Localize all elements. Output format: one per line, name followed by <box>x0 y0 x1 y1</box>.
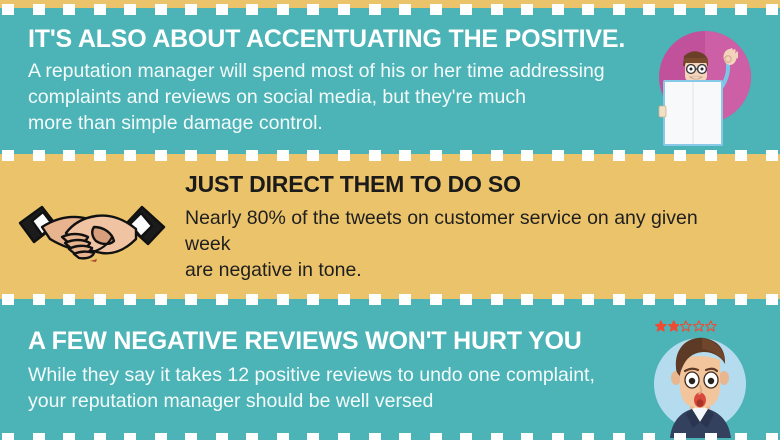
infographic-canvas: IT'S ALSO ABOUT ACCENTUATING THE POSITIV… <box>0 0 780 440</box>
section-2-body-line-1: Nearly 80% of the tweets on customer ser… <box>185 207 698 255</box>
perforation-dash <box>582 4 594 15</box>
perforation-dash <box>552 294 564 305</box>
perforation-dash <box>399 433 411 440</box>
section-2-text-block: JUST DIRECT THEM TO DO SO Nearly 80% of … <box>185 172 745 283</box>
perforation-dash <box>94 433 106 440</box>
perforation-dash <box>185 433 197 440</box>
section-2-body-line-2: are negative in tone. <box>185 259 362 281</box>
perforation-dash <box>63 150 75 161</box>
perforation-row-top <box>0 4 780 15</box>
perforation-dash <box>155 150 167 161</box>
section-1-headline: IT'S ALSO ABOUT ACCENTUATING THE POSITIV… <box>28 26 628 52</box>
perforation-dash <box>94 4 106 15</box>
perforation-dash <box>63 433 75 440</box>
star-filled-icon <box>668 319 680 333</box>
star-empty-icon <box>693 319 705 333</box>
perforation-dash <box>124 294 136 305</box>
perforation-dash <box>582 150 594 161</box>
perforation-dash <box>705 294 717 305</box>
perforation-dash <box>185 294 197 305</box>
section-3-body-line-1: While they say it takes 12 positive revi… <box>28 364 595 386</box>
perforation-dash <box>735 294 747 305</box>
perforation-dash <box>307 150 319 161</box>
section-1-body-line-1: A reputation manager will spend most of … <box>28 60 605 82</box>
perforation-dash <box>33 433 45 440</box>
perforation-dash <box>766 433 778 440</box>
perforation-row-bottom <box>0 433 780 440</box>
perforation-dash <box>521 150 533 161</box>
perforation-dash <box>521 294 533 305</box>
perforation-dash <box>277 294 289 305</box>
perforation-dash <box>277 433 289 440</box>
perforation-dash <box>613 4 625 15</box>
perforation-dash <box>2 294 14 305</box>
perforation-dash <box>552 150 564 161</box>
perforation-dash <box>33 294 45 305</box>
perforation-dash <box>185 150 197 161</box>
perforation-dash <box>521 433 533 440</box>
perforation-dash <box>491 294 503 305</box>
perforation-row-middle-2 <box>0 294 780 305</box>
perforation-dash <box>766 150 778 161</box>
perforation-dash <box>582 294 594 305</box>
perforation-dash <box>460 4 472 15</box>
perforation-dash <box>552 4 564 15</box>
perforation-dash <box>369 4 381 15</box>
perforation-dash <box>155 294 167 305</box>
section-1-text-block: IT'S ALSO ABOUT ACCENTUATING THE POSITIV… <box>28 26 628 136</box>
perforation-dash <box>491 150 503 161</box>
man-holding-clipboard-illustration <box>645 22 765 147</box>
perforation-dash <box>63 4 75 15</box>
perforation-dash <box>430 294 442 305</box>
section-3-headline: A FEW NEGATIVE REVIEWS WON'T HURT YOU <box>28 328 628 354</box>
star-empty-icon <box>680 319 692 333</box>
perforation-dash <box>155 433 167 440</box>
perforation-dash <box>33 4 45 15</box>
perforation-dash <box>124 4 136 15</box>
perforation-dash <box>246 4 258 15</box>
star-filled-icon <box>655 319 667 333</box>
perforation-dash <box>2 150 14 161</box>
perforation-dash <box>307 294 319 305</box>
perforation-dash <box>94 150 106 161</box>
perforation-dash <box>185 4 197 15</box>
section-2-body: Nearly 80% of the tweets on customer ser… <box>185 206 745 283</box>
perforation-dash <box>460 433 472 440</box>
perforation-dash <box>430 150 442 161</box>
perforation-dash <box>460 150 472 161</box>
perforation-dash <box>216 4 228 15</box>
section-1-body-line-2: complaints and reviews on social media, … <box>28 86 526 108</box>
perforation-dash <box>369 433 381 440</box>
perforation-dash <box>705 4 717 15</box>
perforation-dash <box>369 150 381 161</box>
perforation-dash <box>674 433 686 440</box>
perforation-dash <box>674 4 686 15</box>
perforation-dash <box>491 433 503 440</box>
perforation-dash <box>766 4 778 15</box>
perforation-dash <box>582 433 594 440</box>
perforation-dash <box>399 4 411 15</box>
section-3-text-block: A FEW NEGATIVE REVIEWS WON'T HURT YOU Wh… <box>28 328 628 415</box>
perforation-dash <box>2 433 14 440</box>
perforation-dash <box>430 4 442 15</box>
perforation-dash <box>552 433 564 440</box>
perforation-dash <box>338 150 350 161</box>
perforation-dash <box>94 294 106 305</box>
perforation-dash <box>735 433 747 440</box>
perforation-dash <box>430 433 442 440</box>
handshake-illustration <box>16 193 168 267</box>
perforation-dash <box>643 294 655 305</box>
perforation-dash <box>277 150 289 161</box>
perforation-dash <box>216 294 228 305</box>
perforation-row-middle-1 <box>0 150 780 161</box>
perforation-dash <box>766 294 778 305</box>
perforation-dash <box>613 150 625 161</box>
perforation-dash <box>613 294 625 305</box>
perforation-dash <box>643 433 655 440</box>
perforation-dash <box>735 4 747 15</box>
section-3-body-line-2: your reputation manager should be well v… <box>28 390 433 412</box>
perforation-dash <box>216 150 228 161</box>
perforation-dash <box>643 150 655 161</box>
perforation-dash <box>399 150 411 161</box>
perforation-dash <box>33 150 45 161</box>
perforation-dash <box>277 4 289 15</box>
perforation-dash <box>246 294 258 305</box>
perforation-dash <box>124 433 136 440</box>
perforation-dash <box>705 433 717 440</box>
perforation-dash <box>491 4 503 15</box>
perforation-dash <box>338 4 350 15</box>
perforation-dash <box>399 294 411 305</box>
perforation-dash <box>338 433 350 440</box>
perforation-dash <box>521 4 533 15</box>
star-rating <box>655 319 717 335</box>
perforation-dash <box>705 150 717 161</box>
perforation-dash <box>307 4 319 15</box>
perforation-dash <box>2 4 14 15</box>
perforation-dash <box>216 433 228 440</box>
perforation-dash <box>674 294 686 305</box>
perforation-dash <box>460 294 472 305</box>
perforation-dash <box>63 294 75 305</box>
perforation-dash <box>674 150 686 161</box>
perforation-dash <box>246 150 258 161</box>
star-empty-icon <box>705 319 717 333</box>
perforation-dash <box>735 150 747 161</box>
section-2-headline: JUST DIRECT THEM TO DO SO <box>185 172 745 196</box>
perforation-dash <box>307 433 319 440</box>
perforation-dash <box>338 294 350 305</box>
perforation-dash <box>613 433 625 440</box>
perforation-dash <box>369 294 381 305</box>
perforation-dash <box>246 433 258 440</box>
perforation-dash <box>643 4 655 15</box>
section-3-body: While they say it takes 12 positive revi… <box>28 363 628 414</box>
section-1-body: A reputation manager will spend most of … <box>28 59 628 136</box>
perforation-dash <box>155 4 167 15</box>
section-1-body-line-3: more than simple damage control. <box>28 112 323 134</box>
perforation-dash <box>124 150 136 161</box>
